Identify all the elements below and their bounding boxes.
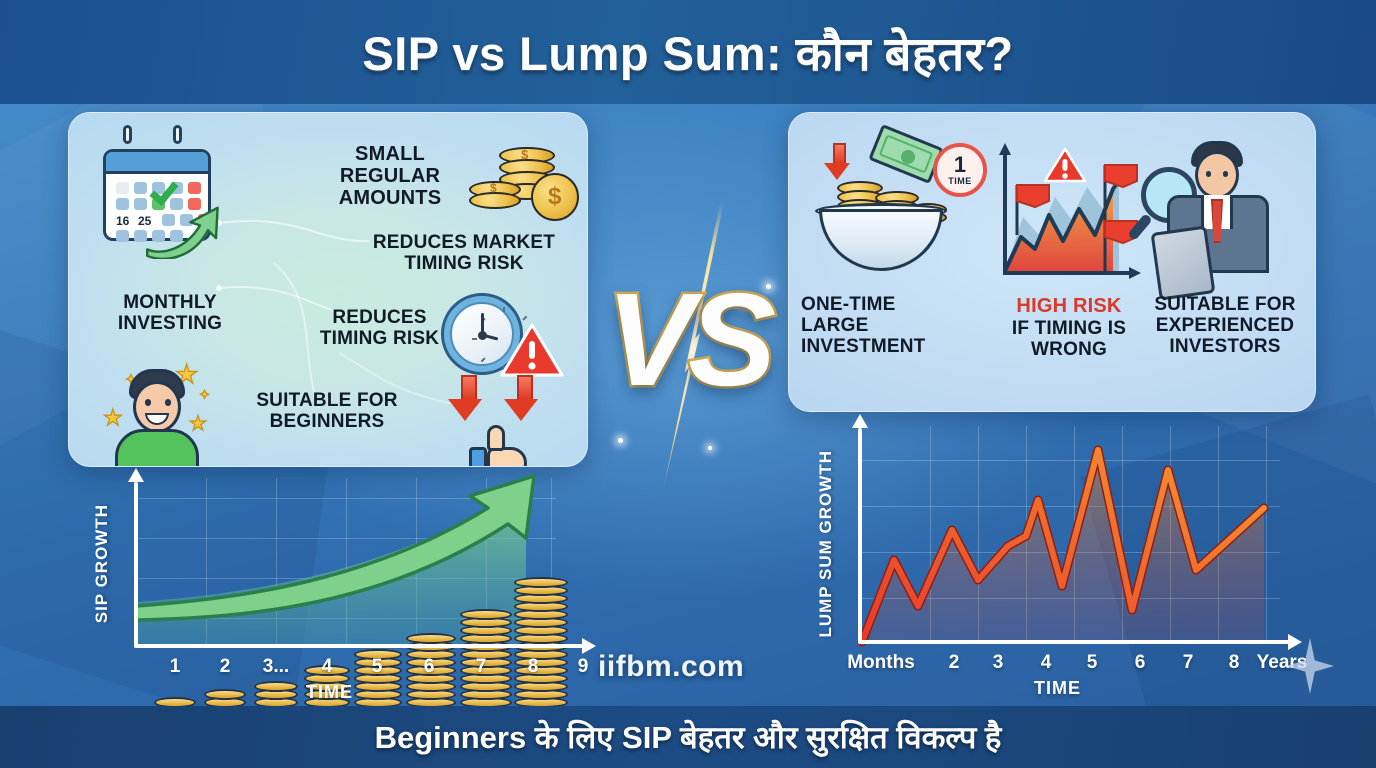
y-axis [858, 428, 862, 644]
red-down-arrow-icon [451, 375, 561, 435]
footer-bar: Beginners के लिए SIP बेहतर और सुरक्षित व… [0, 706, 1376, 768]
coin-column [460, 598, 512, 708]
x-tick-label: 1 [150, 656, 200, 678]
y-axis-arrow [128, 468, 144, 482]
feature-label-reduces-market-timing-risk: REDUCES MARKETTIMING RISK [349, 233, 579, 275]
feature-label-suitable-for-beginners: SUITABLE FORBEGINNERS [227, 391, 427, 433]
x-tick-label: 2 [200, 656, 250, 678]
x-axis [858, 640, 1290, 644]
y-axis [134, 482, 138, 648]
x-axis-arrow [582, 638, 596, 654]
businessman-analyst-icon [1141, 133, 1301, 288]
feature-label-high-risk: HIGH RISK [985, 295, 1153, 317]
x-tick-label: 2 [932, 652, 976, 674]
x-tick-label: Months [836, 652, 926, 674]
infographic-canvas: SIP vs Lump Sum: कौन बेहतर? [0, 0, 1376, 768]
x-tick-label: 4 [302, 656, 352, 678]
feature-label-reduces-timing-risk: REDUCESTIMING RISK [297, 308, 462, 350]
footer-caption: Beginners के लिए SIP बेहतर और सुरक्षित व… [375, 716, 1002, 758]
warning-triangle-icon [499, 321, 565, 381]
feature-label-if-timing-is-wrong: IF TIMING ISWRONG [979, 319, 1159, 361]
x-axis [134, 644, 584, 648]
sip-panel: 16 25 MONTHLYINVESTING SMALLREGULARAMOUN… [68, 112, 588, 467]
sparkle-dot [708, 446, 712, 450]
lump-sum-panel: 1 TIME $ $ ONE-TIMELARGEINVESTMENT [788, 112, 1316, 412]
green-arrow-icon [143, 187, 225, 259]
sip-growth-chart: SIP GROWTH 1 2 3... 4 5 6 7 8 9 TIME [96, 468, 596, 708]
x-axis-arrow [1288, 634, 1302, 650]
feature-label-one-time-large-investment: ONE-TIMELARGEINVESTMENT [801, 295, 981, 358]
x-tick-label: 6 [1118, 652, 1162, 674]
vs-badge: VS [588, 240, 788, 460]
calendar-day-a: 16 [116, 214, 129, 228]
x-tick-label: 8 [508, 656, 558, 678]
coin-stack-icon: $ $ $ [469, 145, 579, 227]
sparkle-dot [618, 438, 623, 443]
lump-sum-growth-chart: LUMP SUM GROWTH Months 2 3 4 5 6 7 8 Yea… [812, 410, 1308, 700]
thumbs-up-icon [469, 431, 549, 467]
x-tick-label: 7 [456, 656, 506, 678]
y-axis-label: LUMP SUM GROWTH [816, 450, 836, 638]
watermark: iifbm.com [598, 650, 744, 684]
feature-label-small-regular-amounts: SMALLREGULARAMOUNTS [315, 143, 465, 209]
one-time-badge: 1 TIME [933, 143, 987, 197]
y-axis-arrow [852, 414, 868, 428]
x-tick-label: 6 [404, 656, 454, 678]
x-tick-label: 3... [248, 656, 304, 678]
clock-warning-icon [441, 293, 566, 383]
vs-label: VS [588, 264, 788, 415]
x-axis-title: TIME [1034, 678, 1081, 699]
x-tick-label: 4 [1024, 652, 1068, 674]
badge-unit: TIME [948, 176, 972, 186]
x-axis-title: TIME [306, 682, 353, 703]
beginner-avatar-icon: ★ ★ ★ ✦ ✦ [103, 353, 223, 467]
coin-column [514, 568, 568, 708]
x-tick-label: 3 [976, 652, 1020, 674]
x-tick-label: 7 [1166, 652, 1210, 674]
x-tick-label: 5 [352, 656, 402, 678]
x-tick-label: 5 [1070, 652, 1114, 674]
page-title: SIP vs Lump Sum: कौन बेहतर? [362, 20, 1013, 84]
volatile-chart-flags-icon [987, 139, 1147, 284]
badge-number: 1 [954, 154, 966, 176]
calendar-growth-icon: 16 25 [95, 135, 235, 265]
header-bar: SIP vs Lump Sum: कौन बेहतर? [0, 0, 1376, 104]
coin-column [254, 680, 298, 708]
lump-sum-line-series [812, 410, 1308, 660]
feature-label-suitable-for-experienced-investors: SUITABLE FOREXPERIENCEDINVESTORS [1135, 295, 1315, 358]
feature-label-monthly-investing: MONTHLYINVESTING [95, 293, 245, 335]
y-axis-label: SIP GROWTH [92, 504, 112, 623]
bowl-of-coins-icon: 1 TIME $ $ [815, 135, 985, 285]
